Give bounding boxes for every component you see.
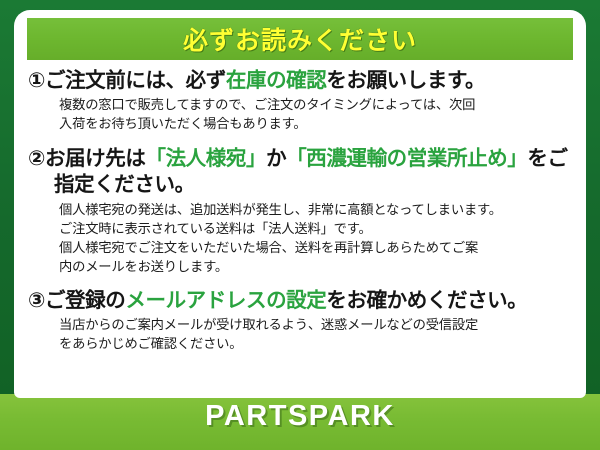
item-2-description: 個人様宅宛の発送は、追加送料が発生し、非常に高額となってしまいます。 ご注文時に… xyxy=(59,201,574,277)
item-1-text-before: ご注文前には、必ず xyxy=(45,69,226,92)
notice-item-1-heading: ①ご注文前には、必ず在庫の確認をお願いします。 xyxy=(28,68,574,94)
brand-logo: PARTSPARK xyxy=(0,400,600,433)
item-2-text-before: お届け先は xyxy=(45,147,146,170)
item-2-highlight-seino: 「西濃運輸の営業所止め」 xyxy=(286,147,527,170)
item-3-text-before: ご登録の xyxy=(45,289,125,312)
item-3-description: 当店からのご案内メールが受け取れるよう、迷惑メールなどの受信設定 をあらかじめご… xyxy=(59,316,574,354)
header-bar: 必ずお読みください xyxy=(27,18,573,60)
item-3-text-after: をお確かめください。 xyxy=(326,289,527,312)
item-number-1: ① xyxy=(28,69,45,92)
item-number-3: ③ xyxy=(28,289,45,312)
item-1-highlight: 在庫の確認 xyxy=(226,69,327,92)
footer-band: PARTSPARK xyxy=(0,394,600,450)
item-1-text-after: をお願いします。 xyxy=(326,69,485,92)
notice-item-3-heading: ③ご登録のメールアドレスの設定をお確かめください。 xyxy=(28,288,574,314)
item-1-description: 複数の窓口で販売してますので、ご注文のタイミングによっては、次回 入荷をお待ち頂… xyxy=(59,96,574,134)
item-3-highlight: メールアドレスの設定 xyxy=(125,289,326,312)
notice-banner: 必ずお読みください ①ご注文前には、必ず在庫の確認をお願いします。 複数の窓口で… xyxy=(0,0,600,450)
notice-item-2-heading: ②お届け先は「法人様宛」か「西濃運輸の営業所止め」をご指定ください。 xyxy=(28,146,574,198)
item-number-2: ② xyxy=(28,147,45,170)
item-2-highlight-corporate: 「法人様宛」 xyxy=(145,147,266,170)
notice-body: ①ご注文前には、必ず在庫の確認をお願いします。 複数の窓口で販売してますので、ご… xyxy=(14,64,586,398)
notice-item-2: ②お届け先は「法人様宛」か「西濃運輸の営業所止め」をご指定ください。 個人様宅宛… xyxy=(28,146,574,277)
notice-card: 必ずお読みください ①ご注文前には、必ず在庫の確認をお願いします。 複数の窓口で… xyxy=(14,10,586,398)
page-title: 必ずお読みください xyxy=(183,21,417,57)
notice-item-3: ③ご登録のメールアドレスの設定をお確かめください。 当店からのご案内メールが受け… xyxy=(28,288,574,354)
item-2-text-mid: か xyxy=(266,147,286,170)
notice-item-1: ①ご注文前には、必ず在庫の確認をお願いします。 複数の窓口で販売してますので、ご… xyxy=(28,68,574,134)
